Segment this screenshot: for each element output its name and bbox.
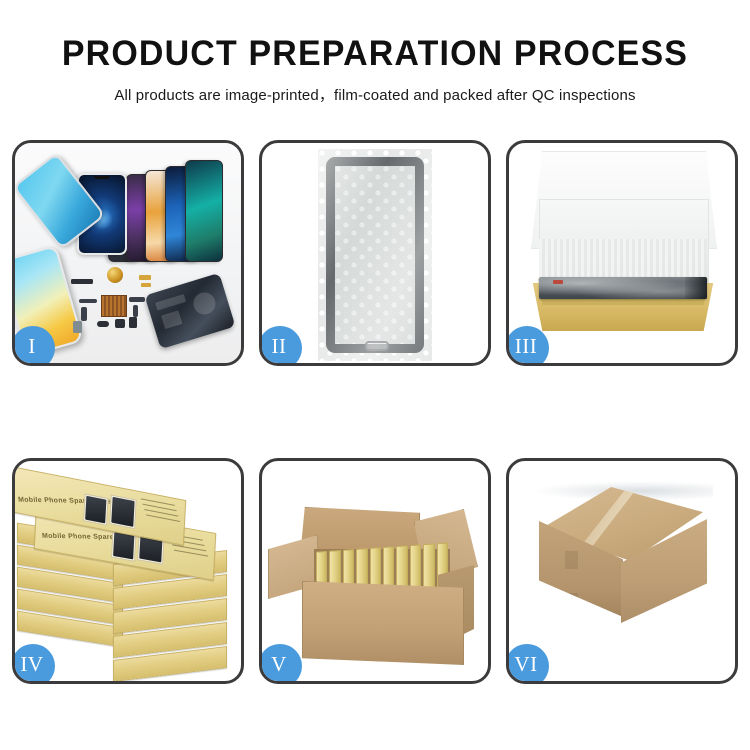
part-coil bbox=[107, 267, 123, 283]
part-speaker bbox=[115, 319, 125, 328]
step-1-photo bbox=[15, 143, 241, 363]
step-panel-2: II bbox=[259, 140, 491, 366]
part-button bbox=[97, 321, 109, 327]
process-steps-grid: I II bbox=[12, 140, 738, 684]
home-button bbox=[365, 341, 389, 351]
part-gold-tab-1 bbox=[139, 275, 151, 280]
carton-front-panel bbox=[302, 581, 464, 665]
screen-red-mark bbox=[553, 280, 563, 284]
product-preparation-infographic: PRODUCT PREPARATION PROCESS All products… bbox=[0, 0, 750, 750]
step-badge-3: III bbox=[506, 326, 549, 366]
part-flex-cable-3 bbox=[129, 297, 145, 302]
step-4-photo: Mobile Phone Spare Parts Mobile Phone Sp… bbox=[15, 461, 241, 681]
phone-fan-group bbox=[107, 157, 241, 262]
step-3-photo bbox=[509, 143, 735, 363]
part-connector bbox=[71, 279, 93, 284]
part-tray bbox=[73, 321, 82, 333]
part-flex-cable-1 bbox=[79, 299, 97, 303]
step-6-photo bbox=[509, 461, 735, 681]
step-badge-5: V bbox=[259, 644, 302, 684]
screen-gloss bbox=[539, 277, 707, 299]
spare-parts-group bbox=[71, 273, 179, 345]
carton-seam-mark-1 bbox=[565, 551, 578, 569]
step-badge-1: I bbox=[12, 326, 55, 366]
bubble-wrapped-screen bbox=[318, 149, 432, 361]
step-badge-4: IV bbox=[12, 644, 55, 684]
kraft-box-stack: Mobile Phone Spare Parts Mobile Phone Sp… bbox=[15, 465, 241, 681]
carton-seam-mark-2 bbox=[565, 593, 578, 611]
phone-screen-1 bbox=[185, 160, 223, 262]
page-title: PRODUCT PREPARATION PROCESS bbox=[11, 0, 739, 73]
box-thumb-1 bbox=[83, 493, 108, 525]
phone-notch bbox=[94, 176, 110, 179]
step-5-photo bbox=[262, 461, 488, 681]
step-panel-5: V bbox=[259, 458, 491, 684]
screen-dark-end bbox=[685, 277, 707, 299]
part-gold-tab-2 bbox=[141, 283, 151, 287]
part-flex-cable-4 bbox=[133, 305, 138, 317]
box-thumb-2 bbox=[109, 494, 137, 529]
step-badge-2: II bbox=[259, 326, 302, 366]
packed-screen bbox=[539, 277, 707, 299]
screen-under-wrap bbox=[326, 157, 424, 353]
page-subtitle: All products are image-printed，film-coat… bbox=[0, 73, 750, 105]
header: PRODUCT PREPARATION PROCESS All products… bbox=[0, 0, 750, 105]
step-panel-6: VI bbox=[506, 458, 738, 684]
part-flex-cable-2 bbox=[81, 307, 87, 321]
step-2-photo bbox=[262, 143, 488, 363]
step-panel-4: Mobile Phone Spare Parts Mobile Phone Sp… bbox=[12, 458, 244, 684]
part-module bbox=[129, 317, 137, 328]
step-panel-1: I bbox=[12, 140, 244, 366]
part-chip-grid bbox=[101, 295, 127, 317]
step-badge-6: VI bbox=[506, 644, 549, 684]
step-panel-3: III bbox=[506, 140, 738, 366]
